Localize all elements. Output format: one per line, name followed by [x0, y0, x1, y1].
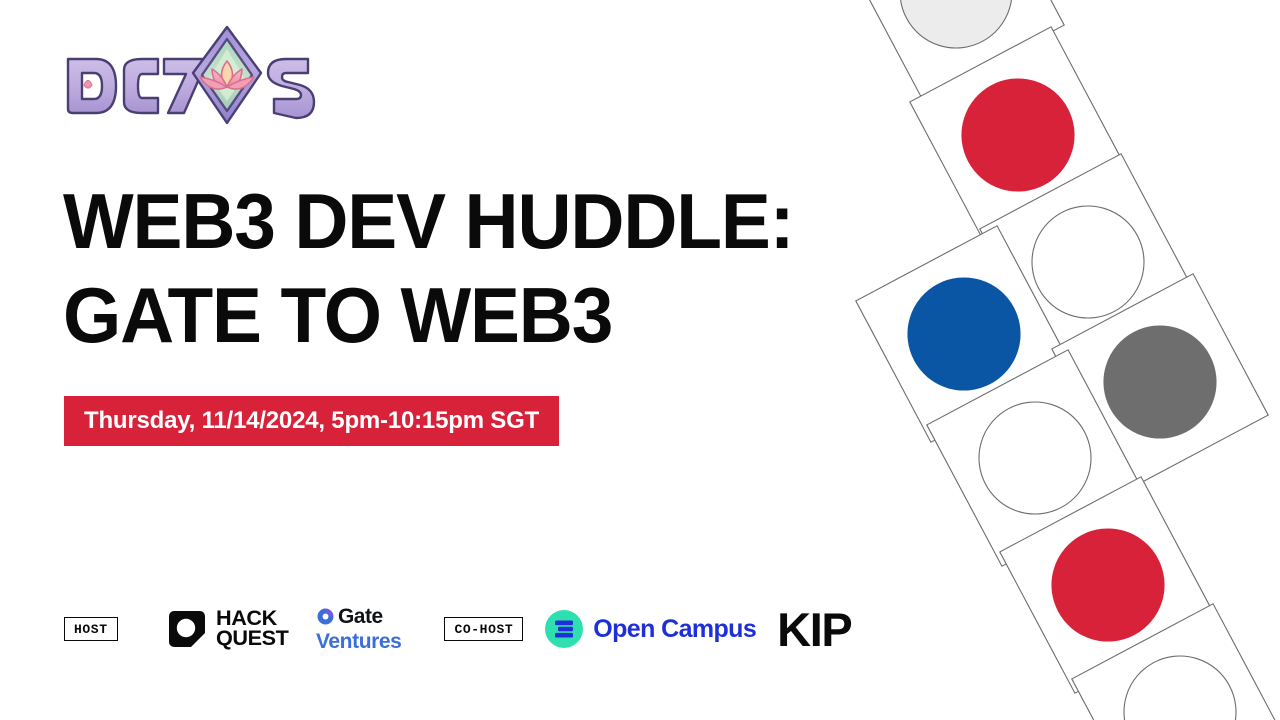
date-banner: Thursday, 11/14/2024, 5pm-10:15pm SGT: [64, 396, 559, 446]
hackquest-line-2: QUEST: [216, 629, 288, 649]
pattern-tile: [927, 350, 1143, 566]
logo-right-word: [268, 59, 314, 118]
kip-wordmark: KIP: [777, 606, 851, 653]
pattern-tile: [856, 226, 1072, 442]
rotated-square-circle-pattern: [840, 0, 1280, 720]
sponsor-row: HOST HACK QUEST Gate Ventures: [64, 598, 851, 660]
open-campus-bars-icon: [544, 609, 584, 649]
gate-top-row: Gate: [316, 605, 402, 629]
hackquest-line-1: HACK: [216, 609, 288, 629]
pattern-tile: [910, 27, 1126, 243]
pattern-tile: [1000, 477, 1216, 693]
gate-ventures-wordmark: Ventures: [316, 630, 402, 654]
pattern-tile: [1072, 604, 1280, 720]
pattern-svg: [840, 0, 1280, 720]
pattern-tile: [848, 0, 1064, 100]
gate-wordmark: Gate: [338, 605, 383, 629]
page-title: WEB3 DEV HUDDLE: GATE TO WEB3: [63, 184, 863, 352]
headline-line-1: WEB3 DEV HUDDLE:: [63, 184, 831, 258]
pattern-connectors: [926, 40, 1181, 709]
hackquest-wordmark: HACK QUEST: [216, 609, 288, 648]
cohost-tag-wrap: CO-HOST: [444, 617, 523, 641]
sponsor-logo-kip: KIP: [777, 606, 851, 653]
sponsor-logo-gate-ventures: Gate Ventures: [316, 605, 402, 654]
dc7-sea-logo-svg: [62, 25, 328, 125]
pattern-tile: [980, 154, 1196, 370]
event-poster: WEB3 DEV HUDDLE: GATE TO WEB3 Thursday, …: [0, 0, 1280, 720]
dc7-sea-logo: [62, 25, 328, 125]
cohost-tag: CO-HOST: [444, 617, 523, 641]
host-tag: HOST: [64, 617, 118, 641]
headline-line-2: GATE TO WEB3: [63, 278, 831, 352]
date-banner-text: Thursday, 11/14/2024, 5pm-10:15pm SGT: [84, 407, 539, 435]
sponsor-logo-hackquest: HACK QUEST: [167, 609, 286, 649]
gate-g-icon: [316, 607, 335, 626]
sponsor-logo-open-campus: Open Campus: [544, 609, 756, 649]
pattern-tile: [1052, 274, 1268, 490]
open-campus-wordmark: Open Campus: [593, 615, 756, 644]
hackquest-mark-icon: [167, 609, 207, 649]
